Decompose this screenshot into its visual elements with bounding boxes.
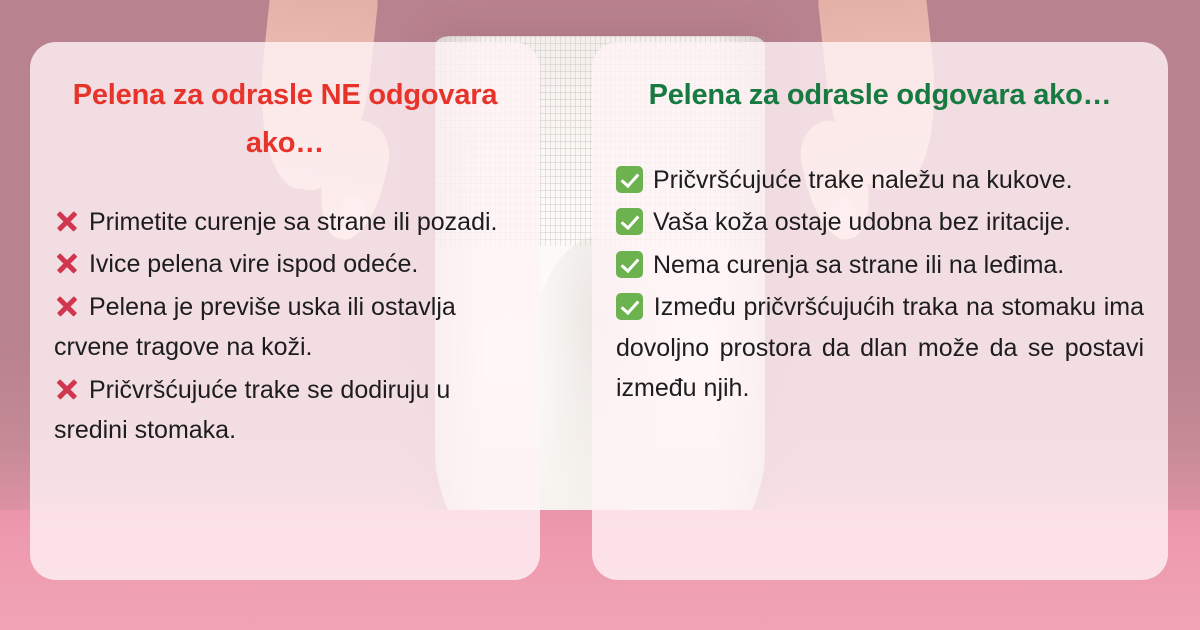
negative-signs-list: Primetite curenje sa strane ili pozadi. … <box>54 202 516 451</box>
list-item-label: Ivice pelena vire ispod odeće. <box>89 250 418 278</box>
positive-signs-card: Pelena za odrasle odgovara ako… Pričvršć… <box>592 42 1168 580</box>
check-icon <box>616 293 643 320</box>
negative-card-title: Pelena za odrasle NE odgovara ako… <box>54 72 516 168</box>
list-item-label: Pelena je previše uska ili ostavlja crve… <box>54 293 456 362</box>
list-item: Primetite curenje sa strane ili pozadi. <box>54 202 516 243</box>
list-item: Između pričvršćujućih traka na stomaku i… <box>616 287 1144 409</box>
list-item-label: Pričvršćujuće trake naležu na kukove. <box>653 166 1073 194</box>
cross-icon <box>54 376 80 402</box>
list-item-label: Između pričvršćujućih traka na stomaku i… <box>616 293 1144 402</box>
cross-icon <box>54 250 80 276</box>
list-item-label: Primetite curenje sa strane ili pozadi. <box>89 208 498 236</box>
list-item: Pelena je previše uska ili ostavlja crve… <box>54 287 516 368</box>
list-item: Nema curenja sa strane ili na leđima. <box>616 245 1144 286</box>
list-item-label: Nema curenja sa strane ili na leđima. <box>653 251 1064 279</box>
check-icon <box>616 208 643 235</box>
list-item-label: Vaša koža ostaje udobna bez iritacije. <box>653 208 1071 236</box>
infographic-canvas: Pelena za odrasle NE odgovara ako… Prime… <box>0 0 1200 630</box>
check-icon <box>616 166 643 193</box>
list-item: Pričvršćujuće trake naležu na kukove. <box>616 160 1144 201</box>
check-icon <box>616 251 643 278</box>
list-item: Ivice pelena vire ispod odeće. <box>54 244 516 285</box>
list-item-label: Pričvršćujuće trake se dodiruju u sredin… <box>54 376 450 445</box>
cross-icon <box>54 208 80 234</box>
list-item: Pričvršćujuće trake se dodiruju u sredin… <box>54 370 516 451</box>
positive-signs-list: Pričvršćujuće trake naležu na kukove. Va… <box>616 160 1144 409</box>
positive-card-title: Pelena za odrasle odgovara ako… <box>616 72 1144 120</box>
negative-signs-card: Pelena za odrasle NE odgovara ako… Prime… <box>30 42 540 580</box>
list-item: Vaša koža ostaje udobna bez iritacije. <box>616 202 1144 243</box>
cross-icon <box>54 293 80 319</box>
